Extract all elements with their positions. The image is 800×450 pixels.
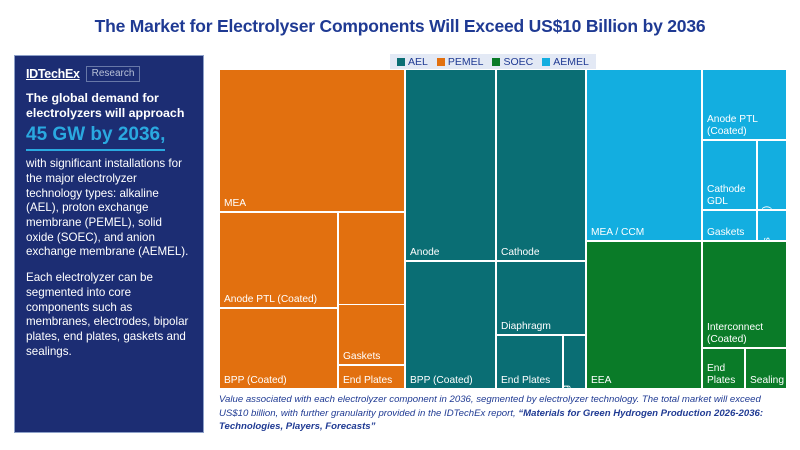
brand-row: IDTechEx Research — [26, 66, 192, 82]
treemap-tile-label: End Plates — [501, 375, 550, 386]
treemap-tile[interactable]: Anode PTL (Coated) — [702, 69, 787, 140]
legend-swatch-icon — [492, 58, 500, 66]
sidebar-paragraph-1: with significant installations for the m… — [26, 157, 192, 260]
sidebar-paragraph-2: Each electrolyzer can be segmented into … — [26, 271, 192, 359]
treemap-tile[interactable]: End Plates — [496, 335, 563, 389]
treemap-tile[interactable]: Cathode GDL — [702, 140, 757, 210]
chart-page: The Market for Electrolyser Components W… — [0, 0, 800, 450]
legend-swatch-icon — [542, 58, 550, 66]
treemap-tile[interactable]: MEA / CCM — [586, 69, 702, 241]
legend-item-aemel[interactable]: AEMEL — [542, 56, 589, 68]
legend-item-ael[interactable]: AEL — [397, 56, 428, 68]
treemap-tile-label: Sealing — [563, 385, 572, 389]
treemap-tile[interactable]: BPP (Coated) — [405, 261, 496, 389]
chart-caption: Value associated with each electrolyzer … — [219, 393, 787, 434]
legend-label: AEMEL — [553, 56, 589, 68]
treemap-tile-label: Cathode GDL — [707, 184, 746, 207]
treemap-tile-label: End Plates — [707, 363, 735, 386]
treemap-tile[interactable]: EEA — [586, 241, 702, 389]
treemap-tile[interactable]: Sealing — [563, 335, 586, 389]
treemap-tile[interactable]: End Plates — [757, 210, 787, 241]
treemap-tile[interactable]: Anode — [405, 69, 496, 261]
treemap-tile-label: BPP (Coated) — [224, 375, 287, 386]
legend-label: AEL — [408, 56, 428, 68]
legend-label: PEMEL — [448, 56, 484, 68]
brand-logo: IDTechEx — [26, 67, 80, 81]
sidebar-lead-text: The global demand for electrolyzers will… — [26, 91, 192, 121]
treemap-tile-label: Gaskets — [707, 227, 744, 238]
treemap-tile[interactable]: End Plates — [702, 348, 745, 389]
treemap-tile-label: Anode — [410, 247, 439, 258]
treemap-tile[interactable]: Diaphragm — [496, 261, 586, 335]
treemap-tile-label: BPP (Coated) — [410, 375, 473, 386]
treemap-tile[interactable]: MEA — [219, 69, 405, 212]
treemap-tile[interactable]: Gaskets — [702, 210, 757, 241]
treemap-tile-label: End Plates — [343, 375, 392, 386]
treemap-tile[interactable]: Sealing — [745, 348, 787, 389]
treemap-chart: MEAAnode PTL (Coated)Cathode GDLBPP (Coa… — [219, 69, 787, 389]
brand-research-badge: Research — [86, 66, 141, 82]
treemap-tile-label: Sealing — [750, 375, 784, 386]
treemap-tile[interactable]: Gaskets — [338, 304, 405, 365]
treemap-tile-label: Diaphragm — [501, 321, 551, 332]
treemap-tile[interactable]: End Plates — [338, 365, 405, 389]
treemap-tile[interactable]: Interconnect (Coated) — [702, 241, 787, 348]
sidebar-key-stat: 45 GW by 2036, — [26, 124, 165, 151]
legend-item-pemel[interactable]: PEMEL — [437, 56, 484, 68]
treemap-tile-label: MEA — [224, 198, 246, 209]
sidebar-panel: IDTechEx Research The global demand for … — [14, 55, 204, 433]
legend-item-soec[interactable]: SOEC — [492, 56, 533, 68]
treemap-tile-label: Gaskets — [343, 351, 380, 362]
page-title: The Market for Electrolyser Components W… — [0, 16, 800, 37]
treemap-tile-label: Anode PTL (Coated) — [224, 294, 317, 305]
treemap-tile-label: Interconnect (Coated) — [707, 322, 763, 345]
treemap-tile[interactable]: Cathode — [496, 69, 586, 261]
legend-swatch-icon — [437, 58, 445, 66]
legend-swatch-icon — [397, 58, 405, 66]
treemap-tile-label: Anode PTL (Coated) — [707, 114, 758, 137]
treemap-tile-label: Cathode — [501, 247, 540, 258]
treemap-tile-label: EEA — [591, 375, 611, 386]
treemap-tile[interactable]: BPP (Coated) — [757, 140, 787, 210]
treemap-tile[interactable]: BPP (Coated) — [219, 308, 338, 389]
treemap-tile[interactable]: Anode PTL (Coated) — [219, 212, 338, 308]
legend-label: SOEC — [503, 56, 533, 68]
treemap-tile-label: MEA / CCM — [591, 227, 644, 238]
